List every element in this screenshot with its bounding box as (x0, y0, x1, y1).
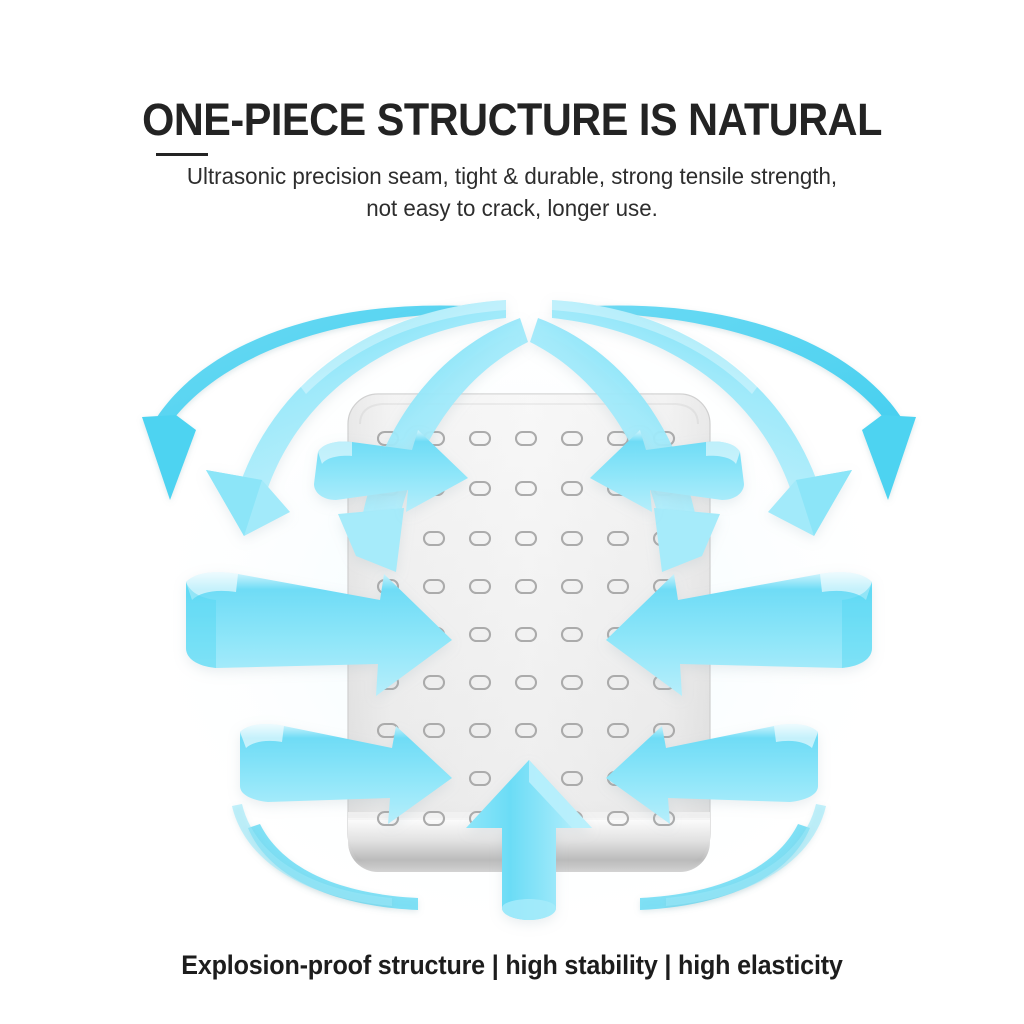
subtitle-line-2: not easy to crack, longer use. (26, 193, 999, 225)
title-underline-accent (156, 153, 208, 156)
footer-caption: Explosion-proof structure | high stabili… (36, 950, 988, 981)
page-title: ONE-PIECE STRUCTURE IS NATURAL (41, 96, 983, 143)
page-subtitle: Ultrasonic precision seam, tight & durab… (26, 161, 999, 224)
subtitle-line-1: Ultrasonic precision seam, tight & durab… (26, 161, 999, 193)
poster-canvas: ONE-PIECE STRUCTURE IS NATURAL Ultrasoni… (0, 0, 1024, 1024)
header-block: ONE-PIECE STRUCTURE IS NATURAL Ultrasoni… (0, 96, 1024, 225)
